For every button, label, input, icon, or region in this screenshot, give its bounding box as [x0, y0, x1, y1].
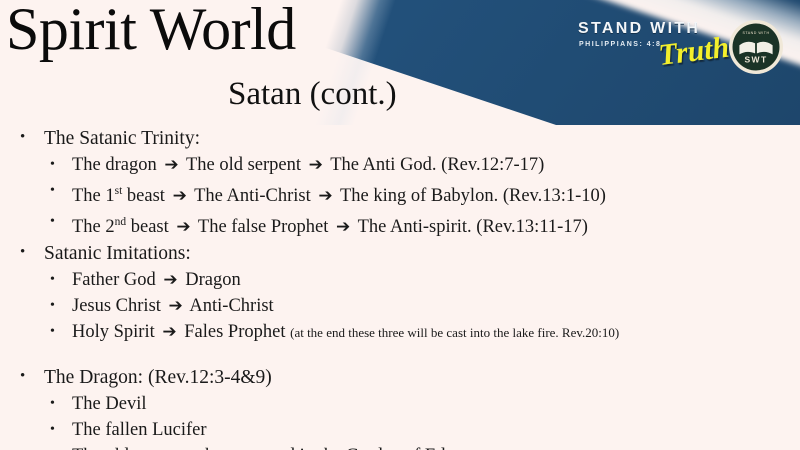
arrow-icon: ➔ [173, 217, 193, 237]
arrow-icon: ➔ [160, 270, 180, 290]
item-text: Holy Spirit [72, 322, 155, 342]
arrow-icon: ➔ [159, 322, 179, 342]
section-heading: The Satanic Trinity: [44, 128, 200, 149]
logo-emblem-icon: SWT STAND WITH [728, 19, 784, 75]
list-item-level1: • Satanic Imitations: [0, 241, 800, 266]
bullet-icon: • [20, 125, 25, 150]
svg-text:STAND WITH: STAND WITH [742, 31, 769, 35]
item-superscript: nd [115, 216, 126, 228]
list-item-level1: • The Dragon: (Rev.12:3-4&9) [0, 365, 800, 390]
section-heading: Satanic Imitations: [44, 243, 191, 264]
bullet-icon: • [50, 293, 55, 318]
section-heading: The Dragon: (Rev.12:3-4&9) [44, 367, 272, 388]
item-text: The Devil [72, 394, 147, 414]
page-subtitle: Satan (cont.) [228, 76, 397, 113]
arrow-icon: ➔ [315, 186, 335, 206]
slide: Spirit World Satan (cont.) STAND WITH PH… [0, 0, 800, 450]
bullet-icon: • [50, 391, 55, 416]
item-text: The dragon [72, 155, 157, 175]
item-text: The 1 [72, 186, 115, 206]
list-item-level1: • The Satanic Trinity: [0, 126, 800, 151]
list-item-level2: • The 1st beast ➔ The Anti-Christ ➔ The … [0, 179, 800, 209]
list-item-level2: • Holy Spirit ➔ Fales Prophet (at the en… [0, 320, 800, 345]
bullet-icon: • [20, 364, 25, 389]
item-text: Jesus Christ [72, 296, 161, 316]
logo-verse-text: PHILIPPIANS: 4:8 [579, 41, 661, 48]
item-text: The Anti-spirit. (Rev.13:11-17) [358, 217, 588, 237]
item-text: Father God [72, 270, 156, 290]
logo-truth-script-text: Truth [657, 31, 731, 73]
item-text: Dragon [185, 270, 240, 290]
arrow-icon: ➔ [333, 217, 353, 237]
arrow-icon: ➔ [161, 155, 181, 175]
list-item-level2: • The Devil [0, 392, 800, 417]
bullet-icon: • [20, 240, 25, 265]
bullet-icon: • [50, 178, 55, 203]
bullet-icon: • [50, 417, 55, 442]
item-text: The old serpent who appeared in the Gard… [72, 446, 468, 450]
bullet-icon: • [50, 319, 55, 344]
item-note-text: (at the end these three will be cast int… [290, 325, 619, 340]
arrow-icon: ➔ [306, 155, 326, 175]
arrow-icon: ➔ [170, 186, 190, 206]
item-text: Fales Prophet [184, 322, 285, 342]
item-text: beast [126, 217, 169, 237]
item-text: Anti-Christ [189, 296, 273, 316]
bullet-icon: • [50, 209, 55, 234]
bullet-icon: • [50, 267, 55, 292]
bullet-icon: • [50, 152, 55, 177]
item-text: The Anti God. (Rev.12:7-17) [330, 155, 544, 175]
item-text: The 2 [72, 217, 115, 237]
arrow-icon: ➔ [166, 296, 186, 316]
brand-logo: STAND WITH PHILIPPIANS: 4:8 Truth SWT ST… [575, 18, 790, 78]
item-text: The king of Babylon. (Rev.13:1-10) [340, 186, 606, 206]
item-text: The false Prophet [198, 217, 329, 237]
page-title: Spirit World [6, 0, 296, 61]
svg-text:SWT: SWT [744, 55, 767, 65]
item-text: The fallen Lucifer [72, 420, 207, 440]
list-item-level2: • The old serpent who appeared in the Ga… [0, 444, 800, 450]
list-item-level2: • The fallen Lucifer [0, 418, 800, 443]
section-spacer [0, 346, 800, 365]
bullet-icon: • [50, 443, 55, 450]
list-item-level2: • Father God ➔ Dragon [0, 268, 800, 293]
slide-body: • The Satanic Trinity: • The dragon ➔ Th… [0, 126, 800, 450]
item-text: The Anti-Christ [194, 186, 311, 206]
item-text: The old serpent [186, 155, 301, 175]
list-item-level2: • Jesus Christ ➔ Anti-Christ [0, 294, 800, 319]
list-item-level2: • The 2nd beast ➔ The false Prophet ➔ Th… [0, 210, 800, 240]
item-text: beast [122, 186, 165, 206]
list-item-level2: • The dragon ➔ The old serpent ➔ The Ant… [0, 153, 800, 178]
